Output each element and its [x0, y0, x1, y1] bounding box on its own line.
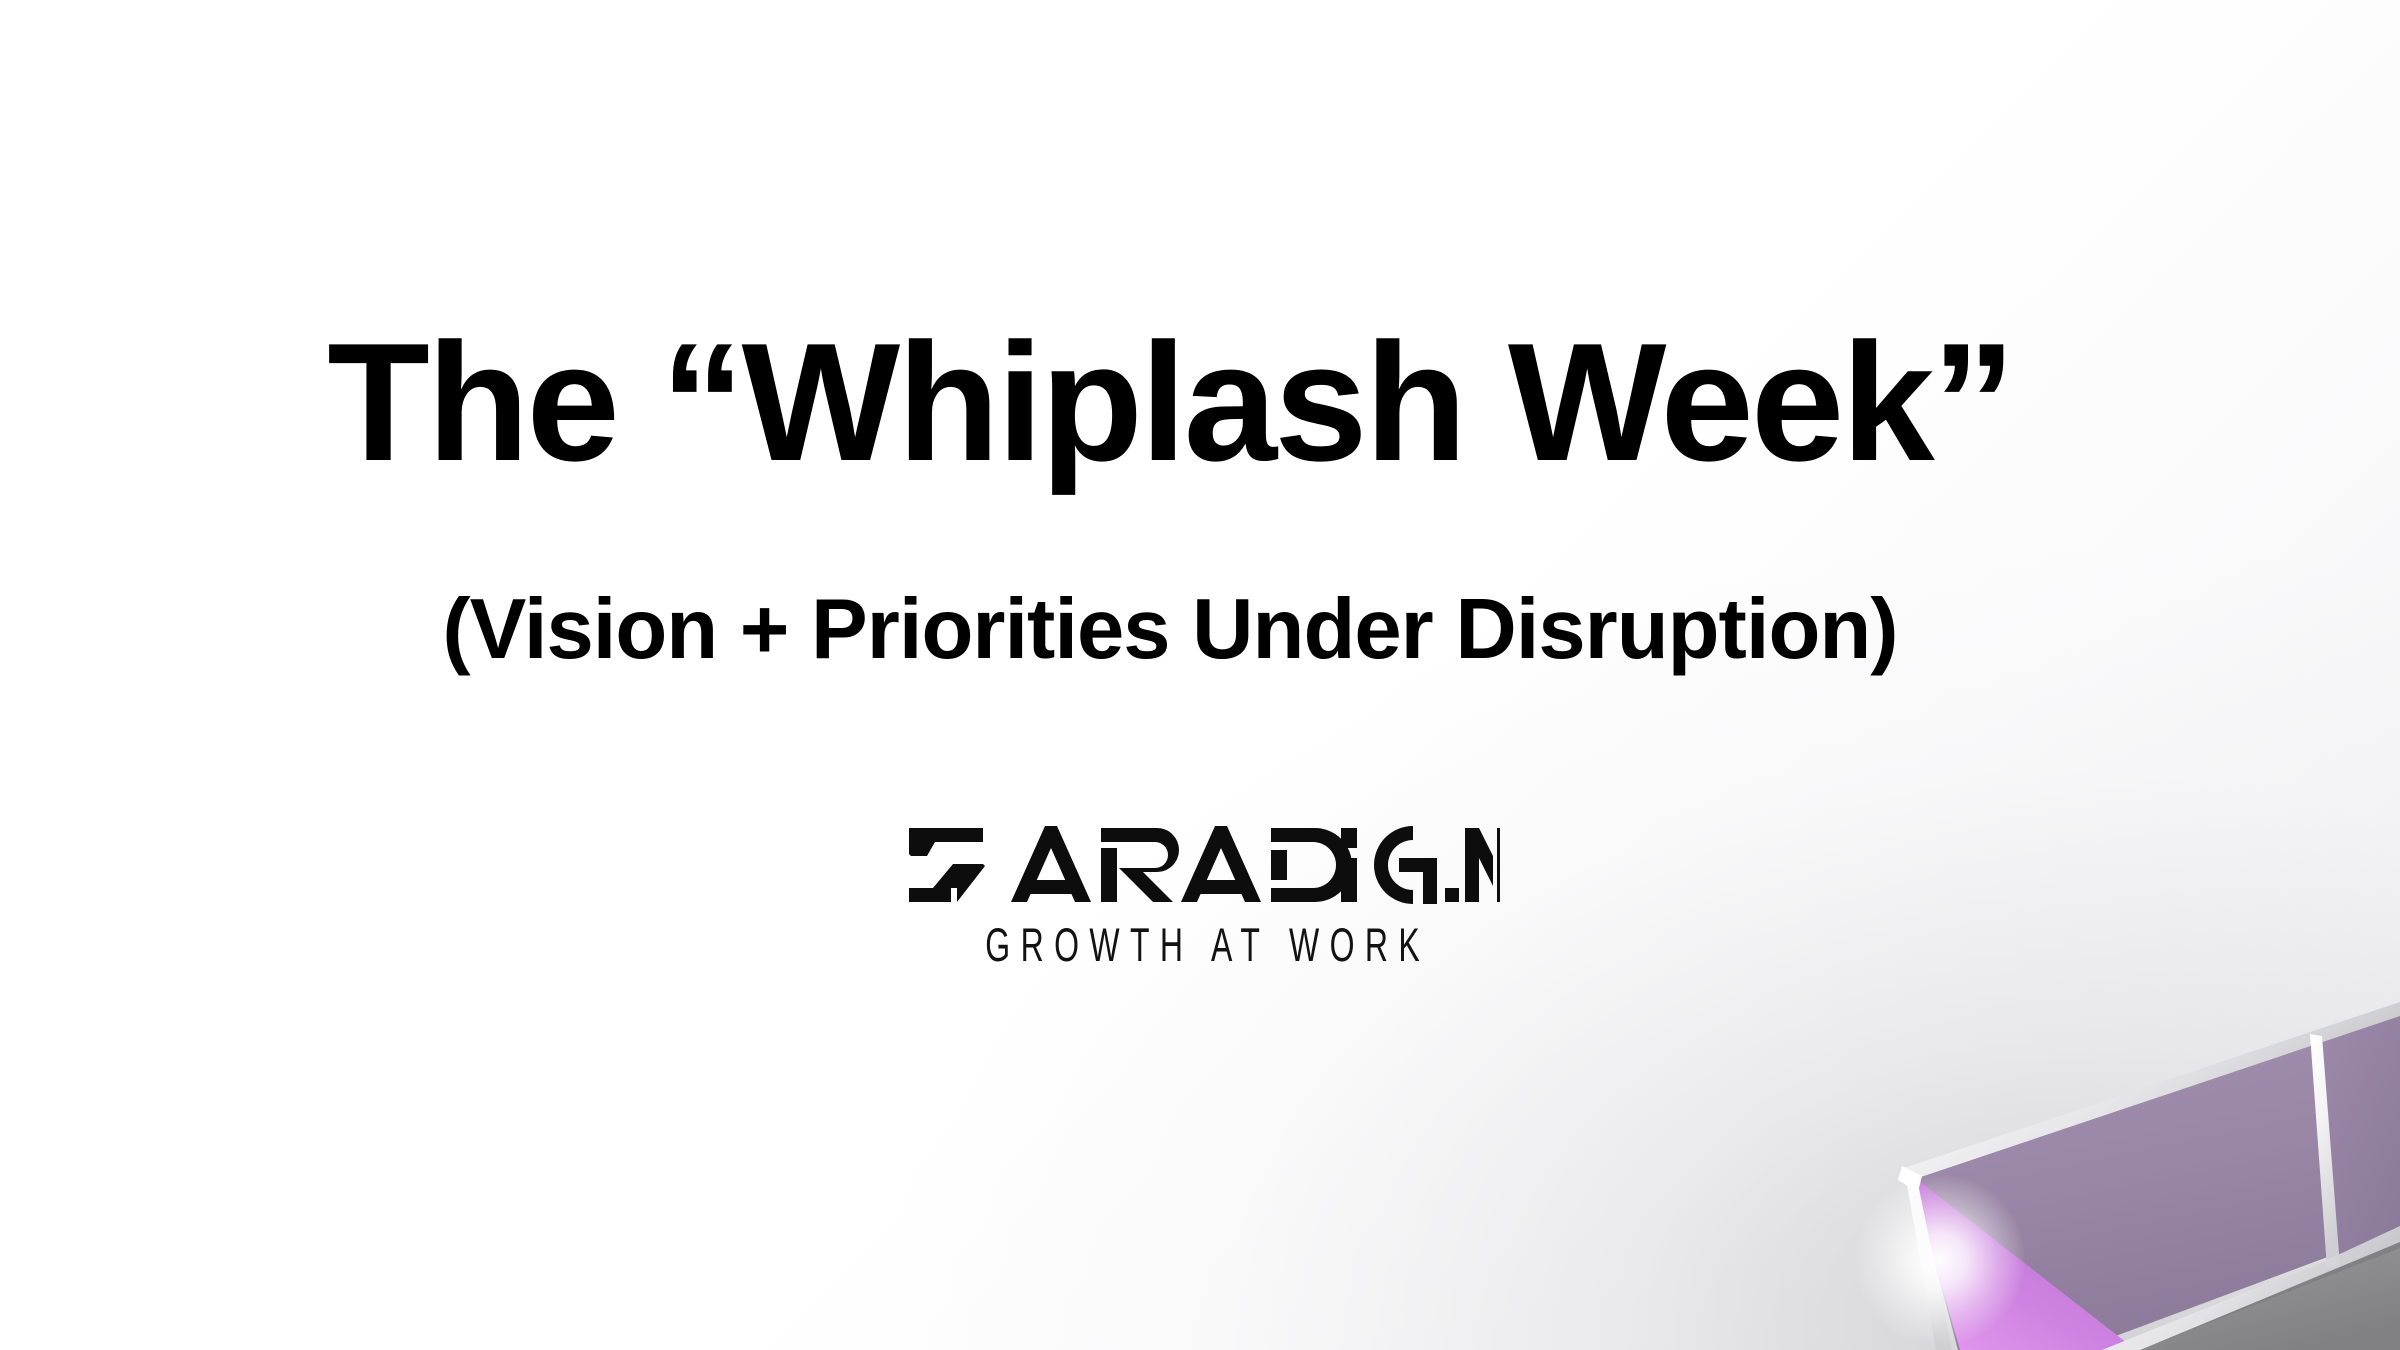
- brand-logo: GROWTH AT WORK: [905, 818, 1500, 983]
- prism-face-magenta: [1910, 1174, 2136, 1350]
- angular-prism-graphic: [1840, 930, 2400, 1350]
- prism-edge-left: [1904, 1168, 1952, 1350]
- prism-edge-lower: [2102, 1226, 2400, 1350]
- slide-canvas: The “Whiplash Week” (Vision + Priorities…: [0, 0, 2400, 1350]
- page-title: The “Whiplash Week”: [0, 318, 2340, 486]
- brand-tagline: GROWTH AT WORK: [965, 922, 1441, 969]
- page-subtitle: (Vision + Priorities Under Disruption): [0, 587, 2340, 672]
- zaradigm-wordmark-icon: [905, 818, 1500, 918]
- prism-edge-strut: [2310, 1034, 2340, 1268]
- prism-face-muted-purple: [1910, 1010, 2400, 1350]
- prism-face-dark-purple: [2310, 1009, 2400, 1268]
- prism-face-magenta-lower: [1960, 1302, 2240, 1350]
- prism-face-grey: [2140, 1242, 2400, 1350]
- prism-apex-glow: [1855, 1175, 2025, 1345]
- prism-apex-highlight: [1898, 1166, 1922, 1192]
- prism-edge-top: [1904, 1002, 2400, 1180]
- prism-face-grey-dark: [2104, 1228, 2400, 1350]
